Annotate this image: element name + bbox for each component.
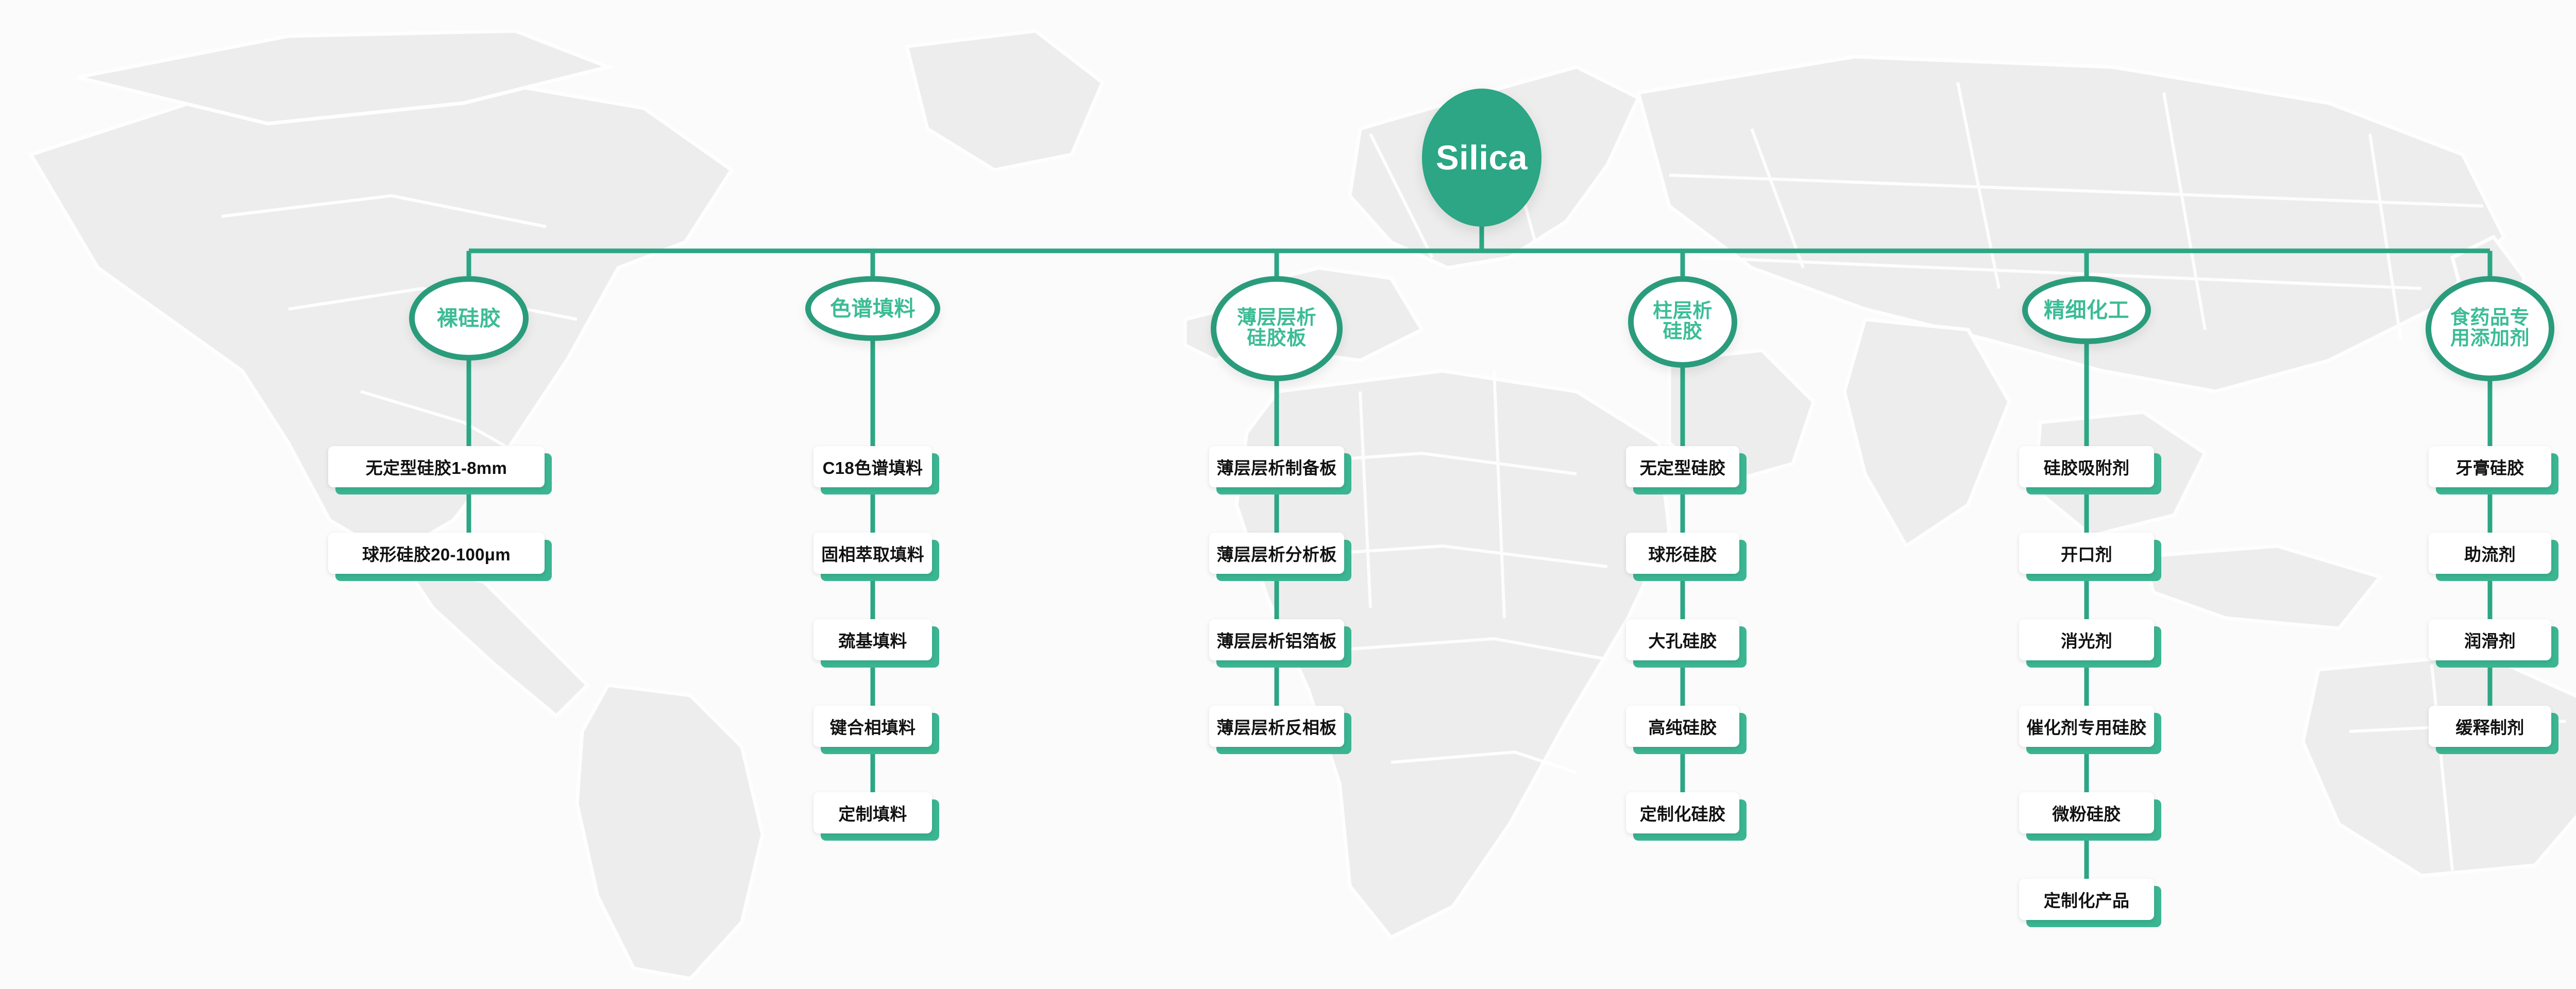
category-node-fine-chemicals[interactable]: 精细化工 xyxy=(2022,276,2151,344)
category-node-tlc-silica-plate[interactable]: 薄层层析硅胶板 xyxy=(1211,276,1343,381)
leaf-box-label: 巯基填料 xyxy=(838,627,907,652)
leaf-box[interactable]: 无定型硅胶1-8mm xyxy=(328,446,545,487)
leaf-box[interactable]: 硅胶吸附剂 xyxy=(2019,446,2154,487)
leaf-box[interactable]: 定制化硅胶 xyxy=(1626,792,1739,833)
leaf-box[interactable]: 薄层层析制备板 xyxy=(1209,446,1344,487)
leaf-box-label: 高纯硅胶 xyxy=(1648,714,1717,739)
leaf-box[interactable]: 巯基填料 xyxy=(814,619,932,660)
leaf-box[interactable]: 缓释制剂 xyxy=(2429,706,2551,747)
leaf-box-label: 球形硅胶 xyxy=(1648,541,1717,566)
leaf-box-label: 硅胶吸附剂 xyxy=(2044,454,2130,479)
leaf-box-label: 球形硅胶20-100μm xyxy=(362,541,511,566)
leaf-box[interactable]: 定制填料 xyxy=(814,792,932,833)
leaf-box[interactable]: 球形硅胶 xyxy=(1626,533,1739,574)
leaf-box[interactable]: 消光剂 xyxy=(2019,619,2154,660)
leaf-box-label: 定制填料 xyxy=(838,800,907,825)
leaf-box[interactable]: 催化剂专用硅胶 xyxy=(2019,706,2154,747)
leaf-box[interactable]: 键合相填料 xyxy=(814,706,932,747)
leaf-box[interactable]: 薄层层析铝箔板 xyxy=(1209,619,1344,660)
leaf-box-label: 开口剂 xyxy=(2061,541,2112,566)
category-node-label: 薄层层析硅胶板 xyxy=(1237,308,1316,349)
leaf-box[interactable]: 薄层层析反相板 xyxy=(1209,706,1344,747)
category-node-column-chromatography-silica[interactable]: 柱层析硅胶 xyxy=(1628,276,1737,368)
leaf-box[interactable]: 高纯硅胶 xyxy=(1626,706,1739,747)
root-node-silica[interactable]: Silica xyxy=(1422,89,1541,227)
leaf-box-label: 催化剂专用硅胶 xyxy=(2026,714,2146,739)
leaf-box[interactable]: 球形硅胶20-100μm xyxy=(328,533,545,574)
category-node-label: 食药品专用添加剂 xyxy=(2450,308,2530,349)
leaf-box-label: 微粉硅胶 xyxy=(2052,800,2121,825)
leaf-box-label: 定制化硅胶 xyxy=(1640,800,1726,825)
leaf-box-label: 消光剂 xyxy=(2061,627,2112,652)
leaf-box[interactable]: 牙膏硅胶 xyxy=(2429,446,2551,487)
leaf-box-label: 助流剂 xyxy=(2464,541,2516,566)
leaf-box-label: 薄层层析分析板 xyxy=(1216,541,1336,566)
leaf-box[interactable]: C18色谱填料 xyxy=(814,446,932,487)
leaf-box-label: 润滑剂 xyxy=(2464,627,2516,652)
leaf-box-label: C18色谱填料 xyxy=(823,454,923,479)
leaf-box-label: 无定型硅胶 xyxy=(1640,454,1726,479)
leaf-box[interactable]: 润滑剂 xyxy=(2429,619,2551,660)
category-node-label: 精细化工 xyxy=(2044,299,2129,321)
category-node-food-pharma-additives[interactable]: 食药品专用添加剂 xyxy=(2426,276,2554,381)
leaf-box[interactable]: 开口剂 xyxy=(2019,533,2154,574)
leaf-box[interactable]: 微粉硅胶 xyxy=(2019,792,2154,833)
leaf-box[interactable]: 固相萃取填料 xyxy=(814,533,932,574)
category-node-bare-silica[interactable]: 裸硅胶 xyxy=(409,276,529,361)
leaf-box-label: 键合相填料 xyxy=(830,714,916,739)
leaf-box-label: 缓释制剂 xyxy=(2455,714,2524,739)
leaf-box-label: 薄层层析反相板 xyxy=(1216,714,1336,739)
category-node-label: 柱层析硅胶 xyxy=(1653,301,1713,342)
category-node-label: 色谱填料 xyxy=(830,298,916,320)
leaf-box-label: 定制化产品 xyxy=(2044,887,2130,912)
leaf-box-label: 薄层层析制备板 xyxy=(1216,454,1336,479)
leaf-box[interactable]: 薄层层析分析板 xyxy=(1209,533,1344,574)
leaf-box[interactable]: 无定型硅胶 xyxy=(1626,446,1739,487)
leaf-box-label: 无定型硅胶1-8mm xyxy=(366,454,507,479)
leaf-box-label: 大孔硅胶 xyxy=(1648,627,1717,652)
leaf-box[interactable]: 定制化产品 xyxy=(2019,879,2154,920)
leaf-box[interactable]: 大孔硅胶 xyxy=(1626,619,1739,660)
leaf-box-label: 薄层层析铝箔板 xyxy=(1216,627,1336,652)
leaf-box[interactable]: 助流剂 xyxy=(2429,533,2551,574)
category-node-chromatography-packing[interactable]: 色谱填料 xyxy=(805,276,940,341)
leaf-box-label: 固相萃取填料 xyxy=(821,541,924,566)
root-node-label: Silica xyxy=(1436,141,1528,175)
leaf-box-label: 牙膏硅胶 xyxy=(2455,454,2524,479)
category-node-label: 裸硅胶 xyxy=(437,308,501,330)
